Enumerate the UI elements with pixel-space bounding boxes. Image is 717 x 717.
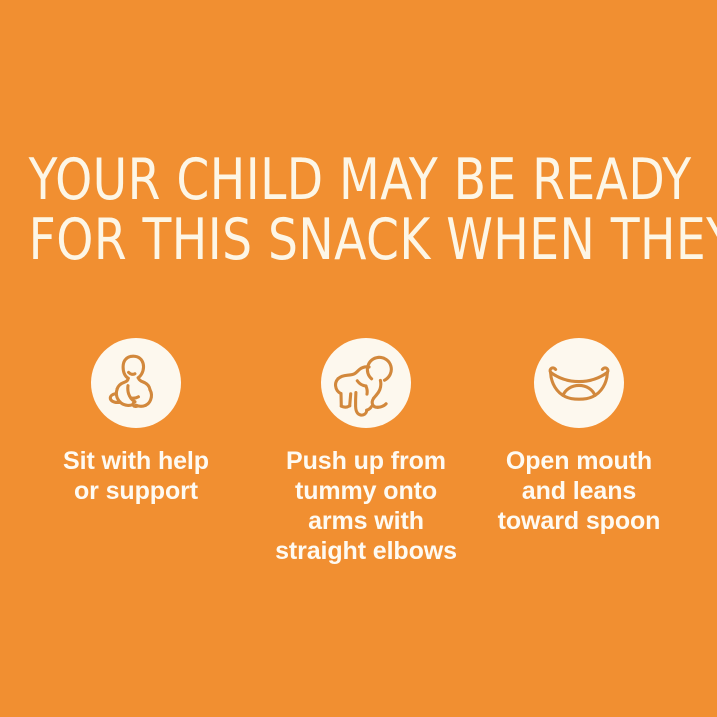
readiness-signs-row: Sit with help or support <box>0 338 717 566</box>
infographic-card: YOUR CHILD MAY BE READY FOR THIS SNACK W… <box>0 0 717 717</box>
headline-line-2: FOR THIS SNACK WHEN THEY: <box>29 210 689 270</box>
caption-line: tummy onto <box>275 476 457 506</box>
readiness-sign-caption: Push up from tummy onto arms with straig… <box>275 446 457 566</box>
caption-line: Push up from <box>275 446 457 476</box>
caption-line: Sit with help <box>63 446 209 476</box>
readiness-sign-caption: Open mouth and leans toward spoon <box>498 446 661 536</box>
caption-line: arms with <box>275 506 457 536</box>
readiness-sign-item: Push up from tummy onto arms with straig… <box>262 338 470 566</box>
baby-sitting-icon <box>91 338 181 428</box>
baby-tummy-push-up-icon <box>321 338 411 428</box>
caption-line: Open mouth <box>498 446 661 476</box>
open-mouth-icon <box>534 338 624 428</box>
caption-line: or support <box>63 476 209 506</box>
headline-line-1: YOUR CHILD MAY BE READY <box>29 150 689 210</box>
readiness-sign-caption: Sit with help or support <box>63 446 209 506</box>
caption-line: and leans <box>498 476 661 506</box>
readiness-sign-item: Open mouth and leans toward spoon <box>470 338 688 536</box>
page-title: YOUR CHILD MAY BE READY FOR THIS SNACK W… <box>0 150 717 270</box>
caption-line: toward spoon <box>498 506 661 536</box>
readiness-sign-item: Sit with help or support <box>10 338 262 506</box>
caption-line: straight elbows <box>275 536 457 566</box>
